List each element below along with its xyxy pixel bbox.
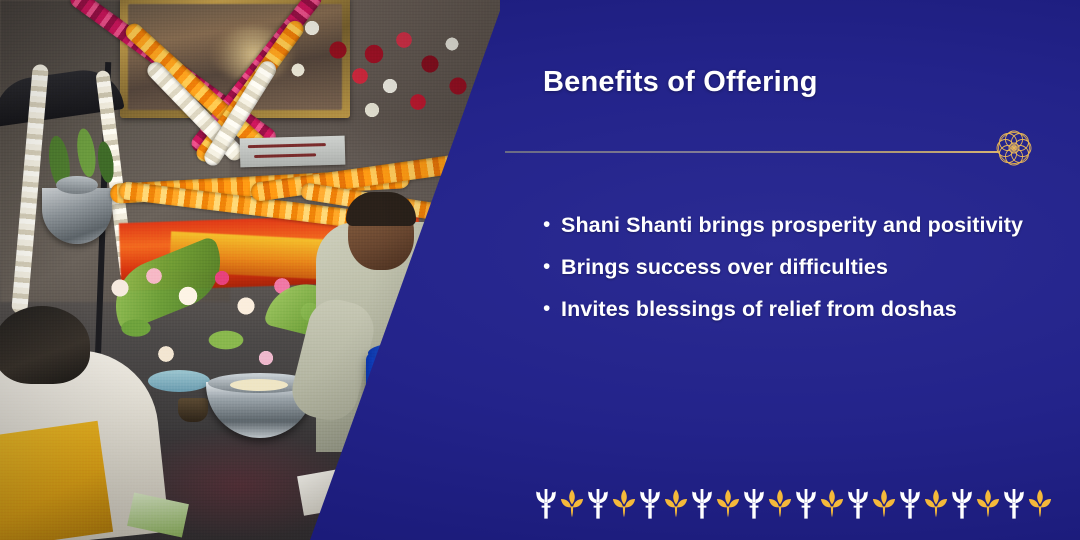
horizontal-divider-line [505, 151, 1000, 153]
bullet-text: Brings success over difficulties [561, 247, 888, 287]
trishul-icon [949, 487, 975, 521]
trishul-icon [1001, 487, 1027, 521]
diya-flame-icon [663, 487, 689, 521]
list-item: • Invites blessings of relief from dosha… [539, 289, 1059, 329]
page-title: Benefits of Offering [543, 66, 818, 99]
diya-flame-icon [1027, 487, 1053, 521]
content-panel: Benefits of Offering • Shani Shanti brin… [505, 0, 1080, 540]
bullet-text: Invites blessings of relief from doshas [561, 289, 957, 329]
trishul-icon [689, 487, 715, 521]
list-item: • Brings success over difficulties [539, 247, 1059, 287]
temple-photo-image [0, 0, 500, 540]
bottom-motif-band [505, 476, 1080, 532]
diya-flame-icon [611, 487, 637, 521]
bullet-marker-icon: • [539, 289, 561, 329]
bullet-text: Shani Shanti brings prosperity and posit… [561, 205, 1023, 245]
bullet-marker-icon: • [539, 247, 561, 287]
mandala-rosette-icon [989, 123, 1039, 173]
trishul-icon [637, 487, 663, 521]
trishul-icon [533, 487, 559, 521]
diya-flame-icon [819, 487, 845, 521]
trishul-icon [845, 487, 871, 521]
diya-flame-icon [923, 487, 949, 521]
divider [505, 142, 1050, 202]
slide-root: Benefits of Offering • Shani Shanti brin… [0, 0, 1080, 540]
trishul-icon [585, 487, 611, 521]
bullet-marker-icon: • [539, 205, 561, 245]
temple-photo [0, 0, 500, 540]
blue-drum [366, 352, 492, 540]
trishul-icon [897, 487, 923, 521]
diya-flame-icon [871, 487, 897, 521]
blue-drum-rib-1 [368, 410, 490, 417]
list-item: • Shani Shanti brings prosperity and pos… [539, 205, 1059, 245]
trishul-icon [741, 487, 767, 521]
diya-flame-icon [975, 487, 1001, 521]
photo-vignette [0, 0, 500, 540]
trishul-icon [793, 487, 819, 521]
bullet-list: • Shani Shanti brings prosperity and pos… [539, 205, 1059, 331]
diya-flame-icon [559, 487, 585, 521]
blue-drum-rib-2 [368, 462, 490, 469]
diya-flame-icon [767, 487, 793, 521]
diya-flame-icon [715, 487, 741, 521]
